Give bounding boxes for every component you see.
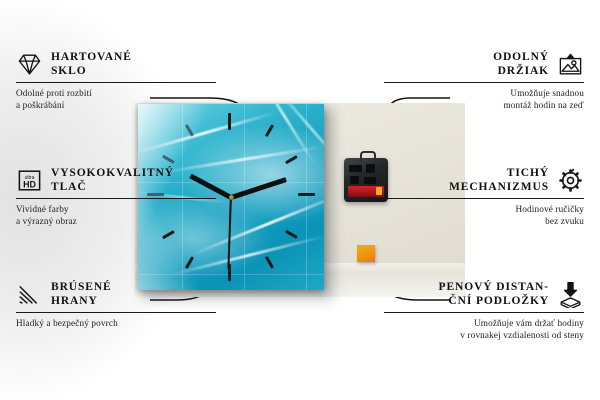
feature-foam-spacers: PENOVÝ DISTAN- ČNÍ PODLOŽKY Umožňuje vám… [384, 280, 584, 341]
feature-header: HARTOVANÉ SKLO [16, 50, 216, 78]
svg-text:HD: HD [23, 179, 36, 189]
mechanism-detail [350, 176, 359, 184]
infographic-canvas: HARTOVANÉ SKLO Odolné proti rozbití a po… [0, 0, 600, 400]
polished-edges-icon [16, 281, 43, 308]
mechanism-battery [348, 186, 384, 197]
divider [384, 312, 584, 313]
feature-header: TICHÝ MECHANIZMUS [384, 166, 584, 194]
divider [384, 82, 584, 83]
foam-spacer-pad [357, 245, 375, 262]
feature-description: Umožňuje snadnou montáž hodin na zeď [384, 88, 584, 111]
clock-mechanism [344, 158, 388, 202]
feature-header: ultra HD VYSOKOKVALITNÝ TLAČ [16, 166, 216, 194]
feature-title: ODOLNÝ DRŽIAK [493, 50, 549, 78]
diamond-icon [16, 51, 43, 78]
mechanism-hanger-hook [360, 151, 376, 162]
clock-center-cap [229, 195, 234, 200]
divider [384, 198, 584, 199]
feature-silent-mechanism: TICHÝ MECHANIZMUS Hodinov [384, 166, 584, 227]
feature-description: Hodinové ručičky bez zvuku [384, 204, 584, 227]
feature-title: VYSOKOKVALITNÝ TLAČ [51, 166, 174, 194]
feature-durable-holder: ODOLNÝ DRŽIAK Umožňuje snadnou montáž ho… [384, 50, 584, 111]
feature-header: ODOLNÝ DRŽIAK [384, 50, 584, 78]
feature-description: Hladký a bezpečný povrch [16, 318, 216, 330]
feature-title: BRÚSENÉ HRANY [51, 280, 112, 308]
battery-terminal [376, 187, 382, 195]
mechanism-detail [364, 177, 376, 184]
gear-icon [557, 167, 584, 194]
feature-header: PENOVÝ DISTAN- ČNÍ PODLOŽKY [384, 280, 584, 308]
mechanism-detail [366, 164, 375, 173]
ultra-hd-icon: ultra HD [16, 167, 43, 194]
feature-header: BRÚSENÉ HRANY [16, 280, 216, 308]
clock-tick [228, 113, 231, 130]
divider [16, 82, 216, 83]
divider [16, 198, 216, 199]
feature-description: Odolné proti rozbití a poškrábání [16, 88, 216, 111]
feature-description: Umožňuje vám držať hodiny v rovnakej vzd… [384, 318, 584, 341]
foam-spacer-icon [557, 281, 584, 308]
feature-polished-edges: BRÚSENÉ HRANY Hladký a bezpečný povrch [16, 280, 216, 330]
feature-title: TICHÝ MECHANIZMUS [449, 166, 549, 194]
divider [16, 312, 216, 313]
clock-tick [298, 193, 315, 196]
wall-hanger-icon [557, 51, 584, 78]
feature-title: HARTOVANÉ SKLO [51, 50, 132, 78]
mechanism-detail [349, 165, 362, 172]
feature-title: PENOVÝ DISTAN- ČNÍ PODLOŽKY [439, 280, 549, 308]
feature-description: Vividné farby a výrazný obraz [16, 204, 216, 227]
feature-tempered-glass: HARTOVANÉ SKLO Odolné proti rozbití a po… [16, 50, 216, 111]
feature-high-quality-print: ultra HD VYSOKOKVALITNÝ TLAČ Vividné far… [16, 166, 216, 227]
